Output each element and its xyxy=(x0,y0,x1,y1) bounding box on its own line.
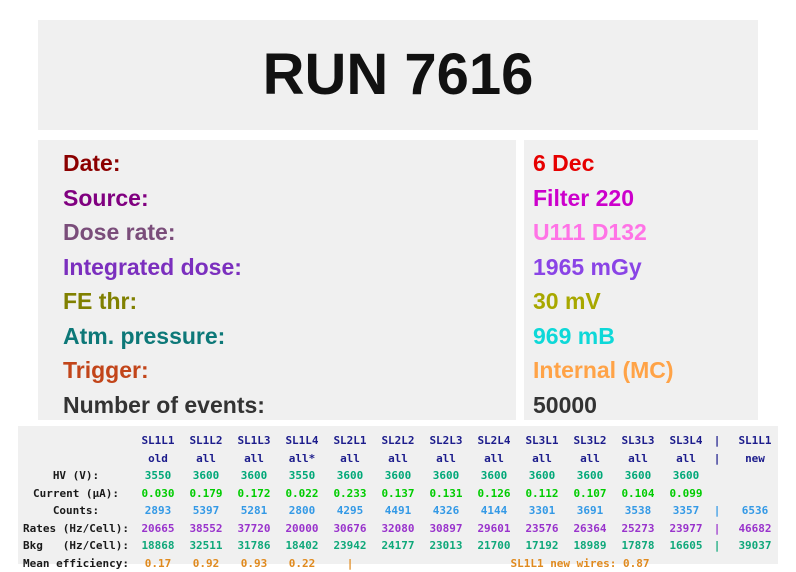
column-header: SL3L4 xyxy=(662,432,710,450)
table-cell: 3600 xyxy=(182,467,230,485)
table-row: Bkg (Hz/Cell):18868325113178618402239422… xyxy=(18,537,786,555)
column-subheader: all xyxy=(182,450,230,468)
info-value: 1965 mGy xyxy=(524,250,758,285)
column-subheader: all* xyxy=(278,450,326,468)
info-label: Number of events: xyxy=(38,388,516,423)
table-cell: 29601 xyxy=(470,520,518,538)
table-cell-new: 39037 xyxy=(724,537,786,555)
table-cell: 0.022 xyxy=(278,485,326,503)
table-cell: 0.107 xyxy=(566,485,614,503)
table-row: HV (V):355036003600355036003600360036003… xyxy=(18,467,786,485)
column-subheader: all xyxy=(518,450,566,468)
column-header: SL1L3 xyxy=(230,432,278,450)
column-subheader: all xyxy=(374,450,422,468)
table-cell: 32080 xyxy=(374,520,422,538)
row-label: Current (µA): xyxy=(18,485,134,503)
run-info-label-list: Date:Source:Dose rate:Integrated dose:FE… xyxy=(38,140,516,420)
table-cell: 32511 xyxy=(182,537,230,555)
table-cell: 3301 xyxy=(518,502,566,520)
table-cell: 2893 xyxy=(134,502,182,520)
table-cell: 3691 xyxy=(566,502,614,520)
info-value: 50000 xyxy=(524,388,758,423)
column-header: SL1L2 xyxy=(182,432,230,450)
table-cell: 0.179 xyxy=(182,485,230,503)
table-row: Rates (Hz/Cell):206653855237720200003067… xyxy=(18,520,786,538)
table-cell: 0.172 xyxy=(230,485,278,503)
info-label: Integrated dose: xyxy=(38,250,516,285)
table-cell: 30897 xyxy=(422,520,470,538)
column-separator: | xyxy=(710,537,724,555)
table-cell: 16605 xyxy=(662,537,710,555)
table-cell: 3600 xyxy=(662,467,710,485)
column-subheader: all xyxy=(422,450,470,468)
table-cell: 17878 xyxy=(614,537,662,555)
table-cell: 3600 xyxy=(326,467,374,485)
run-info-labels-panel: Date:Source:Dose rate:Integrated dose:FE… xyxy=(38,140,516,420)
table-cell: 30676 xyxy=(326,520,374,538)
table-cell: 0.137 xyxy=(374,485,422,503)
table-cell-new: 46682 xyxy=(724,520,786,538)
column-subheader: all xyxy=(662,450,710,468)
table-cell: 17192 xyxy=(518,537,566,555)
info-label: FE thr: xyxy=(38,284,516,319)
table-cell: 3357 xyxy=(662,502,710,520)
table-cell: 25273 xyxy=(614,520,662,538)
table-cell: 3600 xyxy=(566,467,614,485)
page-title: RUN 7616 xyxy=(38,46,758,104)
table-cell: 20000 xyxy=(278,520,326,538)
column-subheader: all xyxy=(614,450,662,468)
table-cell: 4491 xyxy=(374,502,422,520)
title-panel: RUN 7616 xyxy=(38,20,758,130)
info-label: Date: xyxy=(38,146,516,181)
column-subheader: all xyxy=(326,450,374,468)
table-subheader-row: oldallallall*allallallallallallallall|ne… xyxy=(18,450,786,468)
row-label: HV (V): xyxy=(18,467,134,485)
column-separator: | xyxy=(710,520,724,538)
column-separator xyxy=(710,467,724,485)
subheader-corner xyxy=(18,450,134,468)
column-separator: | xyxy=(710,450,724,468)
table-cell: 23013 xyxy=(422,537,470,555)
mean-efficiency-note: SL1L1 new wires: 0.87 xyxy=(374,555,786,572)
table-cell: 4144 xyxy=(470,502,518,520)
table-cell: 0.92 xyxy=(182,555,230,572)
info-label: Atm. pressure: xyxy=(38,319,516,354)
table-cell: 0.93 xyxy=(230,555,278,572)
column-subheader: all xyxy=(470,450,518,468)
column-header-new: SL1L1 xyxy=(724,432,786,450)
column-header: SL1L1 xyxy=(134,432,182,450)
info-value: 30 mV xyxy=(524,284,758,319)
table-cell: 0.112 xyxy=(518,485,566,503)
statistics-table-panel: SL1L1SL1L2SL1L3SL1L4SL2L1SL2L2SL2L3SL2L4… xyxy=(18,426,778,564)
column-header: SL2L2 xyxy=(374,432,422,450)
table-cell: 37720 xyxy=(230,520,278,538)
info-value: Filter 220 xyxy=(524,181,758,216)
table-cell: 5397 xyxy=(182,502,230,520)
column-subheader: all xyxy=(566,450,614,468)
table-cell: 5281 xyxy=(230,502,278,520)
table-cell: 0.126 xyxy=(470,485,518,503)
run-info-values-panel: 6 DecFilter 220U111 D1321965 mGy30 mV969… xyxy=(524,140,758,420)
statistics-table: SL1L1SL1L2SL1L3SL1L4SL2L1SL2L2SL2L3SL2L4… xyxy=(18,432,786,572)
table-cell: 3538 xyxy=(614,502,662,520)
header-corner xyxy=(18,432,134,450)
row-label: Rates (Hz/Cell): xyxy=(18,520,134,538)
table-row: Current (µA):0.0300.1790.1720.0220.2330.… xyxy=(18,485,786,503)
run-info-value-list: 6 DecFilter 220U111 D1321965 mGy30 mV969… xyxy=(524,140,758,420)
column-separator: | xyxy=(710,502,724,520)
table-cell: 3600 xyxy=(422,467,470,485)
info-value: Internal (MC) xyxy=(524,353,758,388)
column-header: SL3L3 xyxy=(614,432,662,450)
column-separator: | xyxy=(326,555,374,572)
table-cell: 23942 xyxy=(326,537,374,555)
table-cell: 21700 xyxy=(470,537,518,555)
table-cell: 4326 xyxy=(422,502,470,520)
column-header: SL2L1 xyxy=(326,432,374,450)
column-header: SL3L2 xyxy=(566,432,614,450)
table-cell: 23977 xyxy=(662,520,710,538)
table-cell: 23576 xyxy=(518,520,566,538)
table-cell: 4295 xyxy=(326,502,374,520)
info-label: Source: xyxy=(38,181,516,216)
table-cell-new: 6536 xyxy=(724,502,786,520)
table-cell: 24177 xyxy=(374,537,422,555)
row-label: Mean efficiency: xyxy=(18,555,134,572)
table-cell: 3600 xyxy=(614,467,662,485)
table-cell: 31786 xyxy=(230,537,278,555)
table-cell: 3600 xyxy=(470,467,518,485)
mean-efficiency-row: Mean efficiency:0.170.920.930.22|SL1L1 n… xyxy=(18,555,786,572)
info-label: Trigger: xyxy=(38,353,516,388)
table-cell: 0.104 xyxy=(614,485,662,503)
info-label: Dose rate: xyxy=(38,215,516,250)
table-cell: 2800 xyxy=(278,502,326,520)
table-header-row: SL1L1SL1L2SL1L3SL1L4SL2L1SL2L2SL2L3SL2L4… xyxy=(18,432,786,450)
column-subheader: all xyxy=(230,450,278,468)
table-cell: 18989 xyxy=(566,537,614,555)
table-row: Counts:289353975281280042954491432641443… xyxy=(18,502,786,520)
row-label: Bkg (Hz/Cell): xyxy=(18,537,134,555)
table-cell: 0.17 xyxy=(134,555,182,572)
table-cell: 3550 xyxy=(278,467,326,485)
table-cell: 0.131 xyxy=(422,485,470,503)
column-subheader: old xyxy=(134,450,182,468)
row-label: Counts: xyxy=(18,502,134,520)
table-cell: 0.233 xyxy=(326,485,374,503)
table-cell: 3600 xyxy=(230,467,278,485)
table-cell: 0.22 xyxy=(278,555,326,572)
column-separator xyxy=(710,485,724,503)
table-cell: 20665 xyxy=(134,520,182,538)
table-cell: 3550 xyxy=(134,467,182,485)
table-cell: 3600 xyxy=(374,467,422,485)
table-cell: 3600 xyxy=(518,467,566,485)
table-cell: 0.099 xyxy=(662,485,710,503)
table-cell: 38552 xyxy=(182,520,230,538)
info-value: 6 Dec xyxy=(524,146,758,181)
table-cell-new xyxy=(724,467,786,485)
table-cell: 0.030 xyxy=(134,485,182,503)
column-subheader-new: new xyxy=(724,450,786,468)
table-cell: 18402 xyxy=(278,537,326,555)
table-cell: 18868 xyxy=(134,537,182,555)
column-header: SL2L4 xyxy=(470,432,518,450)
table-cell: 26364 xyxy=(566,520,614,538)
info-value: U111 D132 xyxy=(524,215,758,250)
column-header: SL1L4 xyxy=(278,432,326,450)
table-cell-new xyxy=(724,485,786,503)
column-header: SL2L3 xyxy=(422,432,470,450)
column-separator: | xyxy=(710,432,724,450)
column-header: SL3L1 xyxy=(518,432,566,450)
info-value: 969 mB xyxy=(524,319,758,354)
